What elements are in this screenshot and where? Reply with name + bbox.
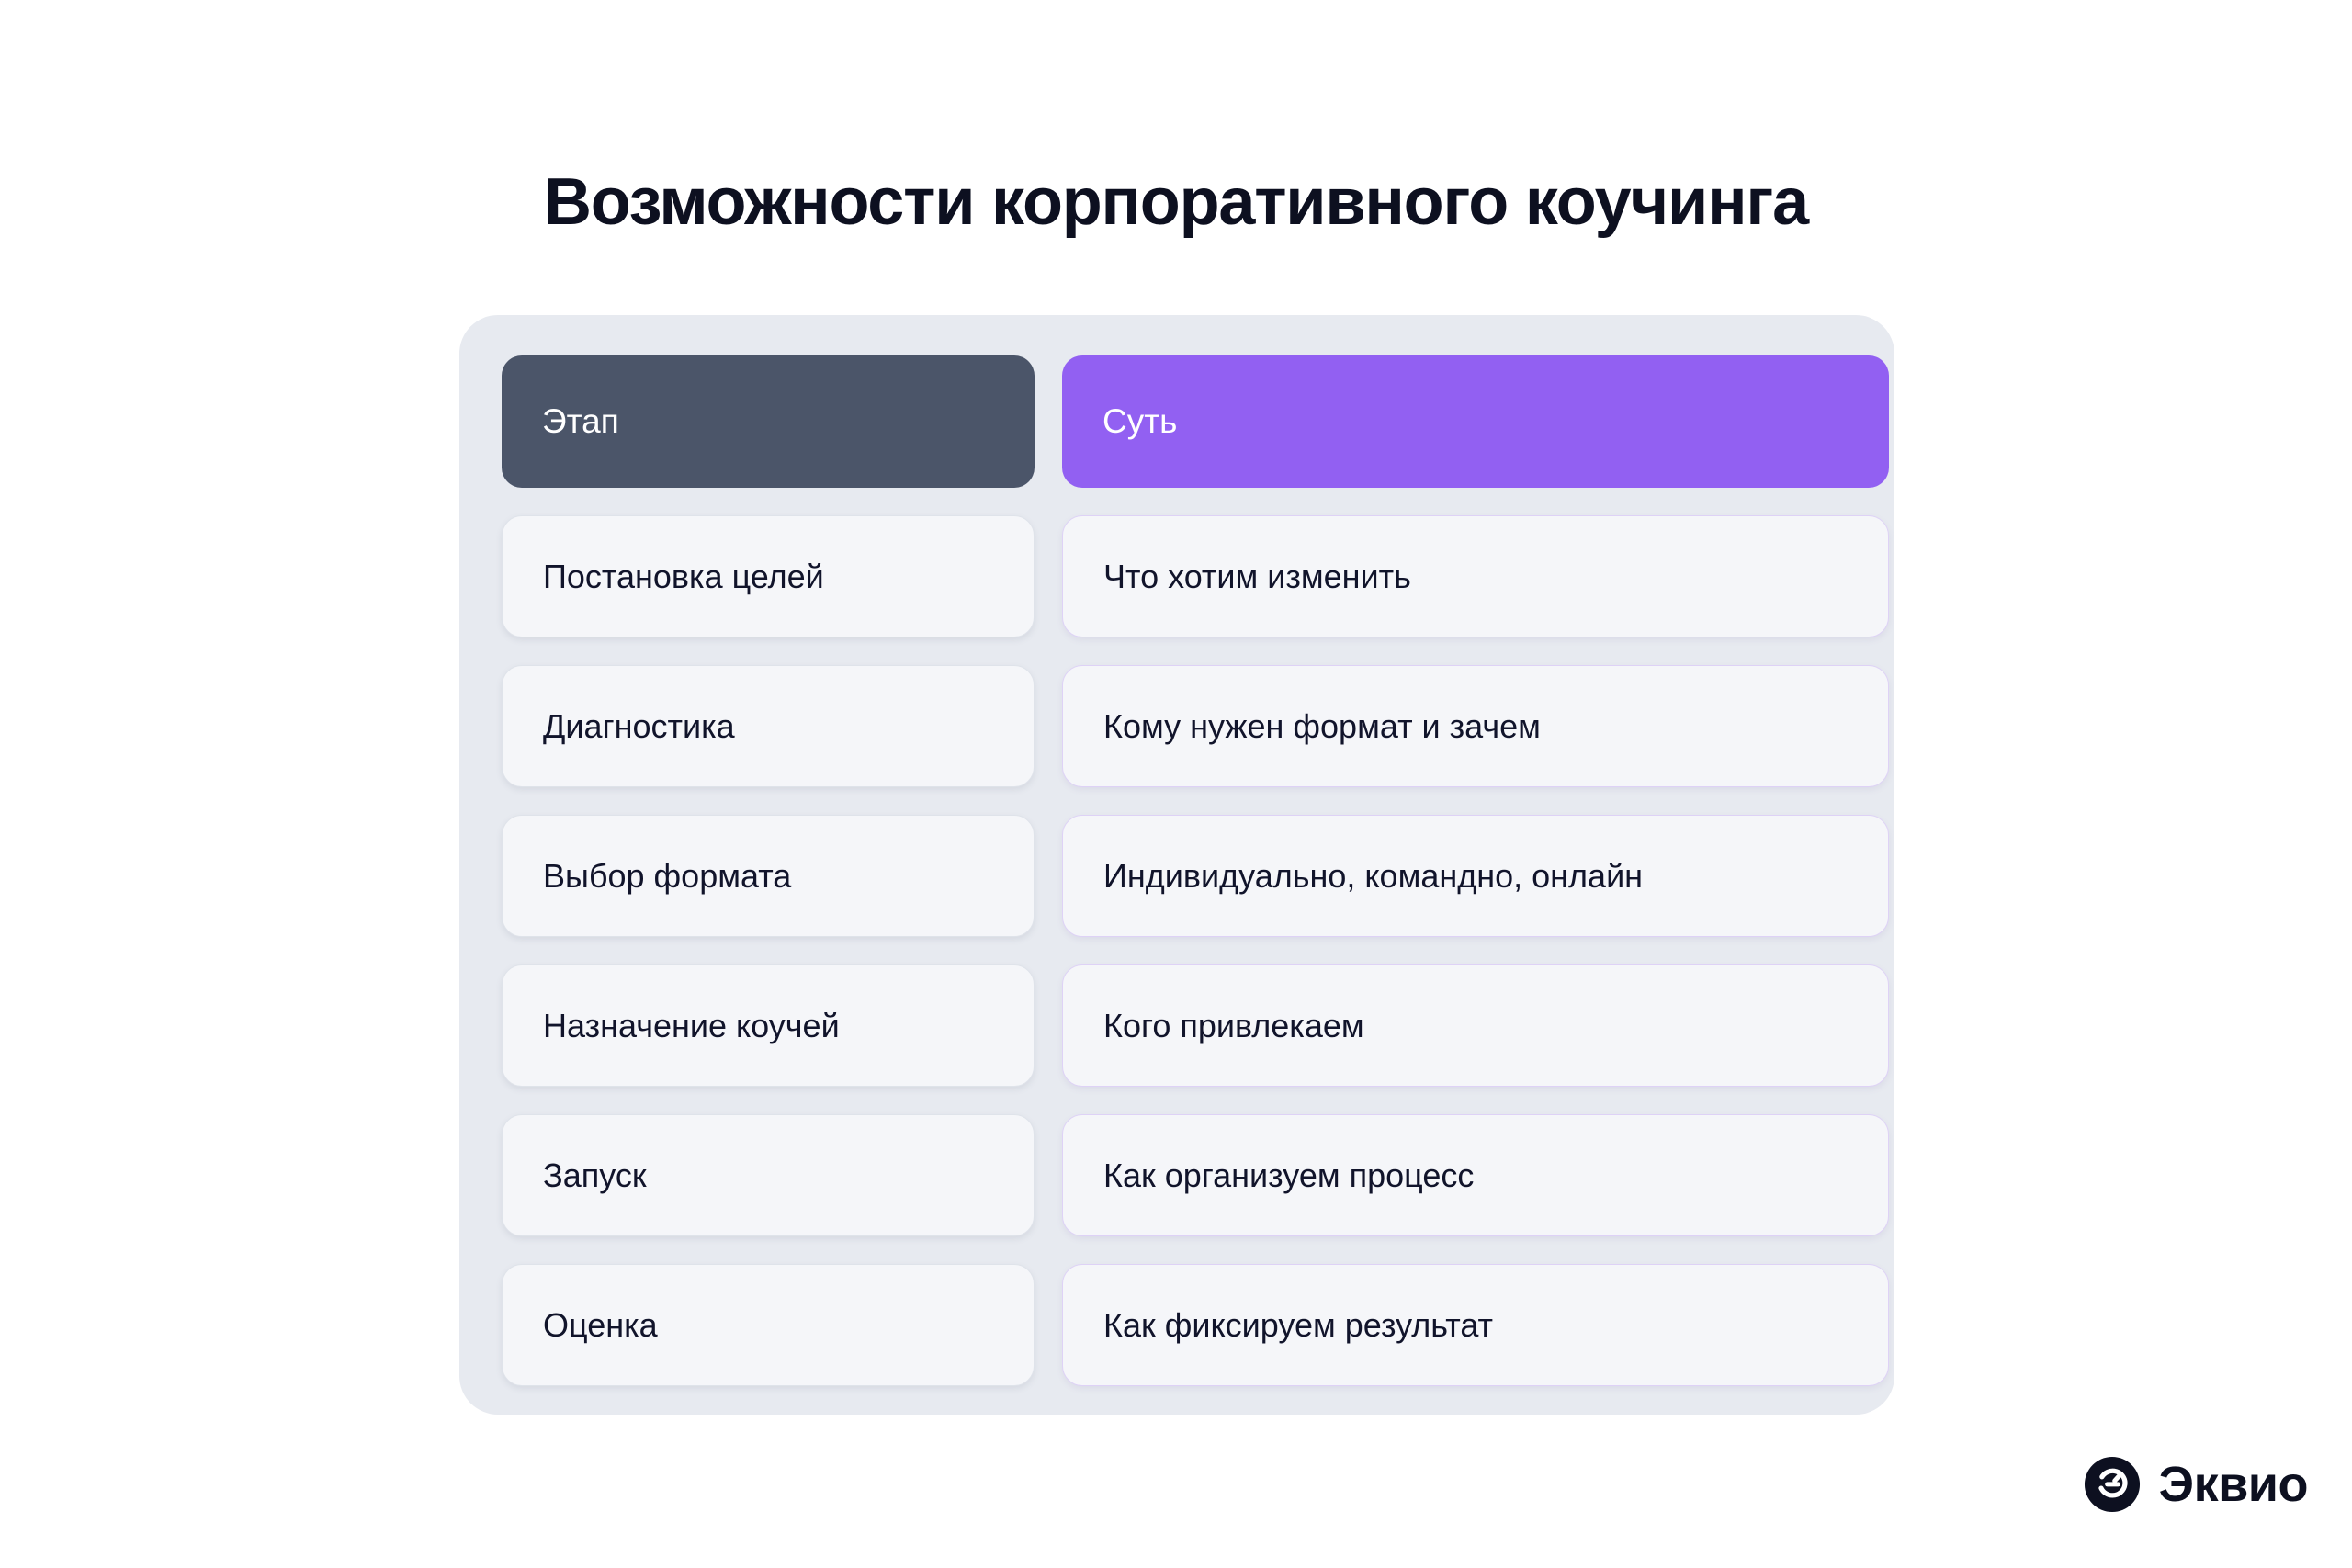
table-row: Постановка целей Что хотим изменить <box>502 515 1852 637</box>
table-row: Назначение коучей Кого привлекаем <box>502 964 1852 1087</box>
cell-essence: Кого привлекаем <box>1062 964 1889 1087</box>
slide-canvas: Возможности корпоративного коучинга Этап… <box>0 0 2352 1568</box>
equio-swirl-icon <box>2084 1456 2141 1513</box>
table-row: Выбор формата Индивидуально, командно, о… <box>502 815 1852 937</box>
page-title: Возможности корпоративного коучинга <box>0 166 2352 239</box>
cell-essence: Как организуем процесс <box>1062 1114 1889 1236</box>
cell-stage: Выбор формата <box>502 815 1035 937</box>
cell-stage: Оценка <box>502 1264 1035 1386</box>
cell-essence: Кому нужен формат и зачем <box>1062 665 1889 787</box>
cell-stage: Запуск <box>502 1114 1035 1236</box>
brand-logo: Эквио <box>2084 1456 2308 1513</box>
comparison-table-card: Этап Суть Постановка целей Что хотим изм… <box>459 315 1894 1415</box>
cell-essence: Что хотим изменить <box>1062 515 1889 637</box>
table-row: Запуск Как организуем процесс <box>502 1114 1852 1236</box>
cell-essence: Как фиксируем результат <box>1062 1264 1889 1386</box>
column-header-essence: Суть <box>1062 355 1889 488</box>
cell-stage: Диагностика <box>502 665 1035 787</box>
cell-stage: Назначение коучей <box>502 964 1035 1087</box>
table-row: Диагностика Кому нужен формат и зачем <box>502 665 1852 787</box>
table-row: Оценка Как фиксируем результат <box>502 1264 1852 1386</box>
brand-name: Эквио <box>2159 1460 2308 1509</box>
cell-essence: Индивидуально, командно, онлайн <box>1062 815 1889 937</box>
table-header-row: Этап Суть <box>502 355 1852 488</box>
cell-stage: Постановка целей <box>502 515 1035 637</box>
column-header-stage: Этап <box>502 355 1035 488</box>
